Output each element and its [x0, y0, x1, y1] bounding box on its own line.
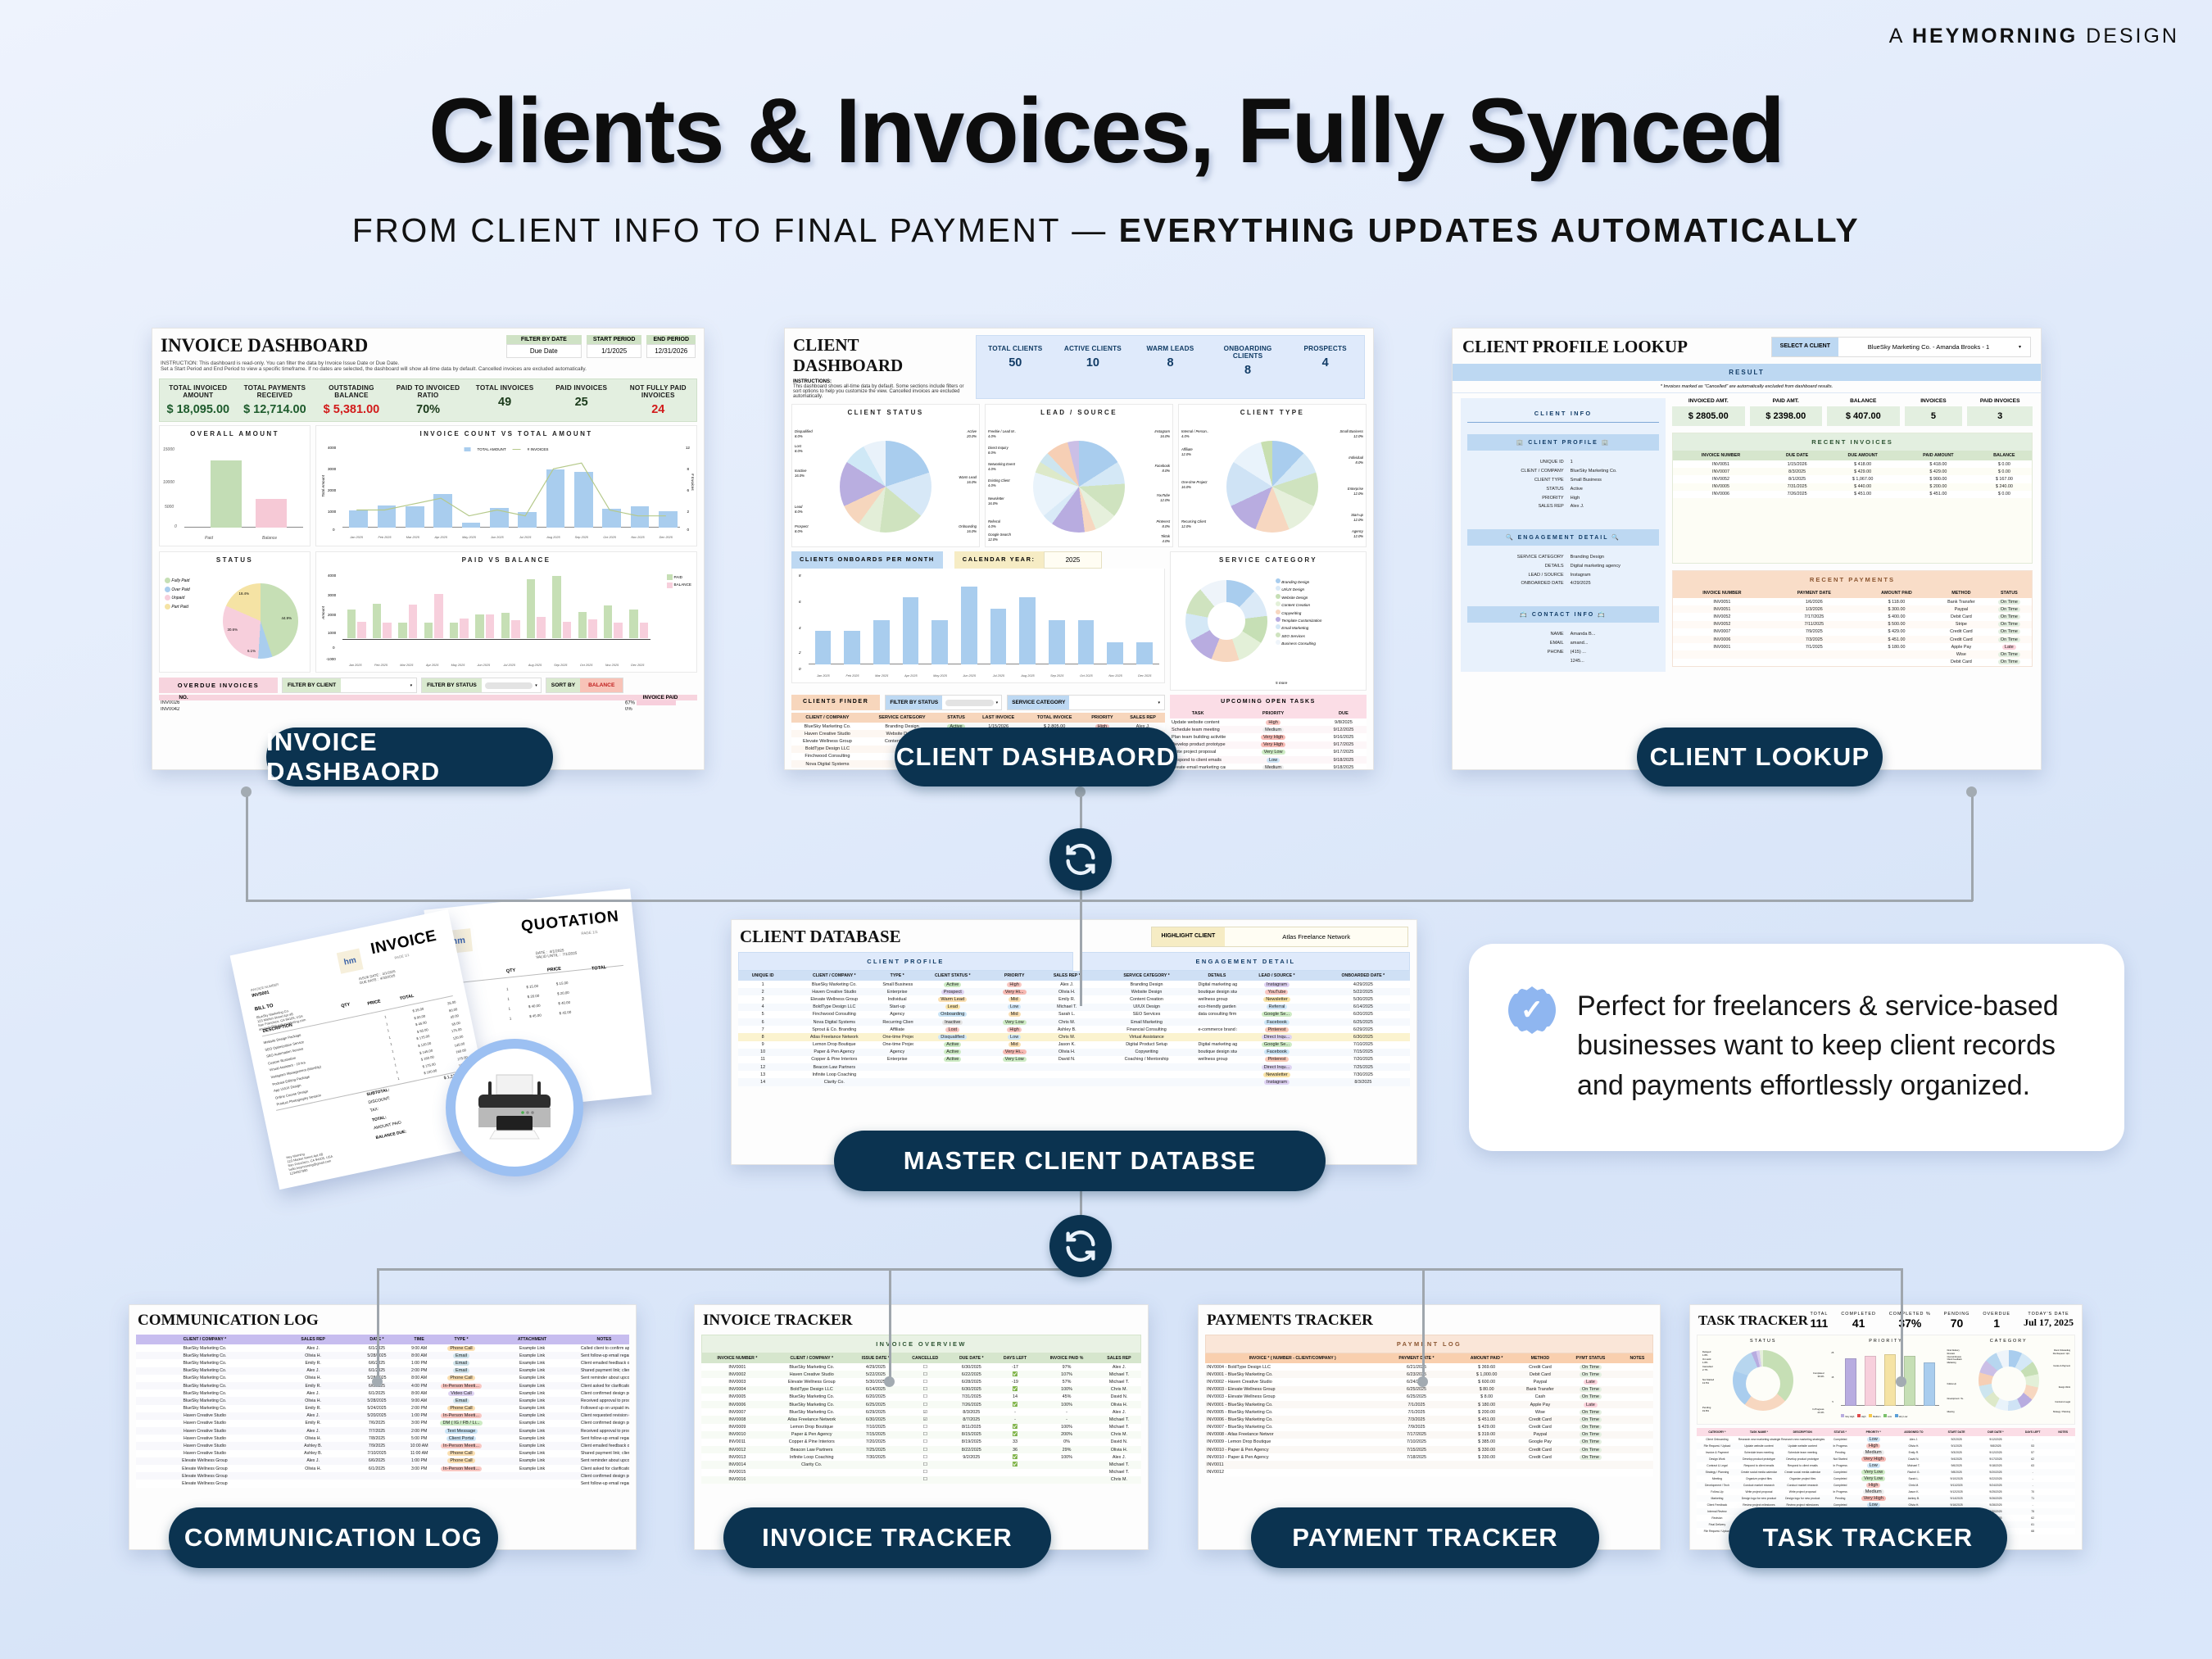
client-lookup-card[interactable]: CLIENT PROFILE LOOKUP SELECT A CLIENT Bl…: [1452, 328, 2042, 770]
table-row[interactable]: 10Paper & Pen AgencyAgencyActiveVery Hi.…: [738, 1049, 1410, 1056]
table-row[interactable]: 8Atlas Freelance NetworkOne-time Project…: [738, 1033, 1410, 1040]
table-row[interactable]: BlueSky Marketing Co.Olivia H.5/28/20258…: [136, 1352, 629, 1359]
table-cell: 57: [2015, 1449, 2051, 1456]
table-row[interactable]: Haven Creative StudioAshley B.7/10/20251…: [136, 1450, 629, 1457]
table-cell: Alex J.: [274, 1367, 353, 1375]
table-cell: Shared payment link; client confirmed re…: [579, 1367, 629, 1375]
column-header[interactable]: PRIORITY: [991, 971, 1036, 981]
table-row[interactable]: INV00528/1/2025$ 1,067.00$ 900.00$ 167.0…: [1673, 475, 2032, 483]
bar: [578, 612, 587, 638]
table-row[interactable]: INV0010 - Paper & Pen Agency7/18/2025$ 3…: [1205, 1453, 1653, 1461]
table-row[interactable]: Haven Creative StudioOlivia H.7/8/20255:…: [136, 1435, 629, 1442]
table-row[interactable]: Respond to client emailsLow9/18/2025: [1170, 756, 1367, 764]
connector-line: [889, 1268, 891, 1383]
column-header[interactable]: DAYS LEFT: [994, 1353, 1036, 1363]
table-row[interactable]: Create email marketing campaignMedium9/1…: [1170, 764, 1367, 770]
table-cell: 7/10/2025: [1317, 1041, 1410, 1049]
table-row[interactable]: 6Nova Digital SystemsRecurring ClientIna…: [738, 1018, 1410, 1026]
table-row[interactable]: Write project proposalVery Low9/17/2025: [1170, 749, 1367, 756]
table-cell: Website Design: [1097, 988, 1197, 995]
calendar-year-label: CALENDAR YEAR:: [954, 551, 1044, 569]
column-header[interactable]: CLIENT / COMPANY *: [773, 1353, 850, 1363]
table-cell: [1621, 1394, 1653, 1401]
table-cell: $ 500.00: [1857, 621, 1936, 628]
table-cell: $ 330.00: [1453, 1446, 1521, 1453]
info-value: BlueSky Marketing Co.: [1567, 467, 1659, 476]
bar: [1078, 620, 1095, 665]
table-row[interactable]: BlueSky Marketing Co.Alex J.6/1/20252:00…: [136, 1367, 629, 1375]
chart-overall-amount: OVERALL AMOUNT 15000 10000 5000 0 Paid B…: [159, 425, 310, 546]
table-row[interactable]: INV0011: [1205, 1461, 1653, 1468]
column-header[interactable]: SALES REP: [1121, 713, 1165, 723]
table-cell: Organize project files: [1780, 1475, 1824, 1482]
info-value: Alex J.: [1567, 502, 1659, 511]
column-header[interactable]: INVOICE NUMBER *: [701, 1353, 773, 1363]
table-row[interactable]: 5Finchwood ConsultingAgencyOnboardingMid…: [738, 1011, 1410, 1018]
table-cell: ☐: [901, 1431, 950, 1439]
column-header[interactable]: PAYMENT DATE *: [1380, 1353, 1453, 1363]
column-header[interactable]: DUE: [1321, 709, 1367, 718]
table-row[interactable]: Elevate Wellness GroupSent follow-up ema…: [136, 1480, 629, 1487]
client-database-card[interactable]: CLIENT DATABASE HIGHLIGHT CLIENT Atlas F…: [731, 919, 1417, 1165]
table-row[interactable]: BlueSky Marketing Co.Emily R.5/24/20252:…: [136, 1405, 629, 1412]
pill-invoice-tracker[interactable]: INVOICE TRACKER: [723, 1507, 1051, 1568]
table-row[interactable]: Plan team building activitiesVery High9/…: [1170, 733, 1367, 741]
table-row[interactable]: 13Infinite Loop CoachingNewsletter7/30/2…: [738, 1071, 1410, 1078]
column-header[interactable]: PRIORITY: [1084, 713, 1121, 723]
axis-tick: Nov 2025: [599, 664, 624, 667]
table-cell: INV0013: [701, 1453, 773, 1461]
table-cell: Schedule team meeting: [1780, 1449, 1824, 1456]
column-header[interactable]: UNIQUE ID: [738, 971, 787, 981]
table-row[interactable]: Haven Creative StudioAlex J.5/20/20251:0…: [136, 1412, 629, 1420]
column-header[interactable]: CLIENT / COMPANY *: [787, 971, 881, 981]
column-header[interactable]: SERVICE CATEGORY *: [1097, 971, 1197, 981]
column-header[interactable]: DUE DATE *: [1977, 1428, 2015, 1436]
table-row[interactable]: INV0004BoldType Design LLC6/14/2025☐6/30…: [701, 1386, 1141, 1394]
connector-dot: [1966, 786, 1977, 797]
connector-line: [1971, 791, 1974, 901]
table-row[interactable]: Haven Creative StudioAshley B.7/9/202510…: [136, 1442, 629, 1449]
table-cell: YouTube: [1237, 988, 1316, 995]
column-header[interactable]: AMOUNT PAID *: [1453, 1353, 1521, 1363]
table-cell: Email Marketing: [1097, 1018, 1197, 1026]
table-row[interactable]: BlueSky Marketing Co.Alex J.6/1/20259:00…: [136, 1344, 629, 1352]
table-row[interactable]: MeetingOrganize project filesOrganize pr…: [1697, 1475, 2075, 1482]
table-row[interactable]: 14Clarity Co.Instagram8/3/2025: [738, 1078, 1410, 1086]
table-row[interactable]: BlueSky Marketing Co.Emily R.6/6/20254:0…: [136, 1382, 629, 1389]
table-cell: 2:00 PM: [401, 1367, 437, 1375]
table-cell: On Time: [1560, 1439, 1621, 1446]
filter-by-date[interactable]: FILTER BY DATE Due Date: [506, 335, 582, 358]
table-row[interactable]: 4BoldType Design LLCStart-upLeadLowMicha…: [738, 1004, 1410, 1011]
table-row[interactable]: BlueSky Marketing Co.Olivia H.5/28/20258…: [136, 1375, 629, 1382]
column-header[interactable]: LAST INVOICE: [972, 713, 1026, 723]
column-header[interactable]: INVOICE * ( NUMBER - CLIENT/COMPANY ): [1205, 1353, 1380, 1363]
table-cell: On Time: [1560, 1431, 1621, 1439]
select-a-client[interactable]: SELECT A CLIENT BlueSky Marketing Co. - …: [1771, 337, 2031, 357]
table-cell: Olivia H.: [1037, 988, 1097, 995]
client-filter-by-status[interactable]: FILTER BY STATUS ▾: [885, 695, 1002, 710]
bar: [347, 610, 356, 638]
table-cell: Paypal: [1521, 1378, 1560, 1385]
column-header[interactable]: DUE DATE *: [950, 1353, 994, 1363]
table-row[interactable]: INV0001 - BlueSky Marketing Co.7/1/2025$…: [1205, 1401, 1653, 1408]
table-row[interactable]: 11Copper & Pine InteriorsEnterpriseActiv…: [738, 1056, 1410, 1063]
info-row: ONBOARDED DATE4/29/2025: [1467, 579, 1659, 588]
table-cell: [1036, 1476, 1097, 1484]
table-cell: Finchwood Consulting: [791, 753, 863, 760]
table-row[interactable]: INV00511/6/2026$ 118.00Bank TransferOn T…: [1673, 598, 2032, 605]
table-row[interactable]: Strategy / PlanningCreate social media c…: [1697, 1469, 2075, 1475]
table-cell: [485, 1472, 579, 1480]
column-header[interactable]: SERVICE CATEGORY: [863, 713, 941, 723]
invoice-dashboard-card[interactable]: INVOICE DASHBOARD FILTER BY DATE Due Dat…: [152, 328, 705, 770]
table-cell: In-Person Meeti...: [437, 1442, 485, 1449]
column-header[interactable]: TIME: [401, 1335, 437, 1344]
table-row[interactable]: INV0005 - BlueSky Marketing Co.7/1/2025$…: [1205, 1408, 1653, 1416]
table-row[interactable]: INV0014Clarity Co.☐✅Michael T.: [701, 1461, 1141, 1468]
info-row: PHONE(415) ...: [1467, 647, 1659, 656]
filter-by-status[interactable]: FILTER BY STATUS ▾: [421, 678, 542, 693]
table-row[interactable]: INV00067/26/2025$ 451.00$ 451.00$ 0.00: [1673, 491, 2032, 498]
table-row[interactable]: INV00527/11/2025$ 500.00StripeOn Time: [1673, 621, 2032, 628]
table-row[interactable]: INV0016☐Chris M.: [701, 1476, 1141, 1484]
column-header[interactable]: CATEGORY *: [1697, 1428, 1738, 1436]
table-row[interactable]: INV0004 - BoldType Design LLC6/21/2025$ …: [1205, 1363, 1653, 1371]
table-cell: Internal Review: [1697, 1508, 1738, 1515]
table-cell: Michael T.: [1097, 1371, 1141, 1378]
pill-task-tracker[interactable]: TASK TRACKER: [1729, 1507, 2007, 1568]
pill-master-client-database[interactable]: MASTER CLIENT DATABSE: [834, 1131, 1326, 1191]
table-row[interactable]: File Request / UploadUpdate website cont…: [1697, 1443, 2075, 1449]
table-cell: Debit Card: [1936, 659, 1987, 666]
table-cell: 6/20/2025: [850, 1394, 901, 1401]
table-row[interactable]: INV0002 - Haven Creative Studio6/24/2025…: [1205, 1378, 1653, 1385]
info-key: STATUS: [1467, 484, 1567, 493]
table-cell: Atlas Freelance Network: [787, 1033, 881, 1040]
column-header[interactable]: PYMT STATUS: [1560, 1353, 1621, 1363]
table-row[interactable]: INV0013Infinite Loop Coaching7/30/2025☐9…: [701, 1453, 1141, 1461]
table-cell: High: [991, 981, 1036, 988]
column-header[interactable]: PAYMENT DATE: [1771, 588, 1857, 598]
start-period[interactable]: START PERIOD 1/1/2025: [587, 335, 642, 358]
table-row[interactable]: Update website contentHigh9/8/2025: [1170, 718, 1367, 726]
onboards-title: CLIENTS ONBOARDS PER MONTH: [791, 551, 943, 569]
table-cell: Olivia H.: [1037, 1049, 1097, 1056]
table-row[interactable]: Schedule team meetingMedium9/12/2025: [1170, 726, 1367, 733]
table-row[interactable]: 9Lemon Drop BoutiqueOne-time ProjectActi…: [738, 1041, 1410, 1049]
table-cell: Late: [1560, 1401, 1621, 1408]
column-header[interactable]: NOTES: [579, 1335, 629, 1344]
column-header[interactable]: PRIORITY: [1226, 709, 1321, 718]
table-row[interactable]: 1BlueSky Marketing Co.Small BusinessActi…: [738, 981, 1410, 988]
table-row[interactable]: INV0007BlueSky Marketing Co.6/29/2025☑8/…: [701, 1408, 1141, 1416]
table-cell: Wise: [1936, 650, 1987, 658]
column-header[interactable]: SALES REP: [274, 1335, 353, 1344]
table-row[interactable]: INV0007 - BlueSky Marketing Co.7/9/2025$…: [1205, 1424, 1653, 1431]
sync-icon: [1049, 828, 1112, 891]
column-header[interactable]: STATUS *: [1824, 1428, 1855, 1436]
table-row[interactable]: INV0005BlueSky Marketing Co.6/20/2025☐7/…: [701, 1394, 1141, 1401]
table-cell: Example Link: [485, 1427, 579, 1435]
table-row[interactable]: WiseOn Time: [1673, 650, 2032, 658]
table-cell: Haven Creative Studio: [136, 1427, 274, 1435]
column-header[interactable]: INVOICE PAID %: [1036, 1353, 1097, 1363]
table-cell: ☐: [901, 1469, 950, 1476]
end-period[interactable]: END PERIOD 12/31/2026: [646, 335, 696, 358]
table-cell: INV0002 - Haven Creative Studio: [1205, 1378, 1380, 1385]
pill-client-lookup[interactable]: CLIENT LOOKUP: [1637, 728, 1883, 786]
table-row[interactable]: Haven Creative StudioEmily R.7/6/20253:0…: [136, 1420, 629, 1427]
table-cell: [2051, 1456, 2075, 1462]
axis-tick: Jul 2025: [511, 536, 539, 539]
connector-line: [377, 1268, 1901, 1271]
filter-by-client[interactable]: FILTER BY CLIENT ▾: [282, 678, 417, 693]
table-row[interactable]: INV0006BlueSky Marketing Co.6/25/2025☐7/…: [701, 1401, 1141, 1408]
table-row[interactable]: INV0012Beacon Law Partners7/25/2025☐8/22…: [701, 1446, 1141, 1453]
column-header[interactable]: START DATE: [1936, 1428, 1977, 1436]
highlight-client[interactable]: HIGHLIGHT CLIENT Atlas Freelance Network: [1151, 927, 1408, 947]
table-cell: Jason K.: [1892, 1489, 1937, 1495]
table-cell: [485, 1480, 579, 1487]
table-cell: Medium: [1226, 726, 1321, 733]
column-header[interactable]: STATUS: [1987, 588, 2032, 598]
table-row[interactable]: INV0001BlueSky Marketing Co.4/29/2025☐6/…: [701, 1363, 1141, 1371]
chart-invoice-status-pie: STATUS Fully Paid Over Paid Unpaid Part …: [159, 551, 310, 673]
column-header[interactable]: DAYS LEFT: [2015, 1428, 2051, 1436]
table-row[interactable]: INV0008 - Atlas Freelance Networ7/17/202…: [1205, 1431, 1653, 1439]
column-header[interactable]: INVOICE NUMBER: [1673, 588, 1771, 598]
table-row[interactable]: Follow-UpWrite project proposalWrite pro…: [1697, 1489, 2075, 1495]
column-header[interactable]: SALES REP *: [1037, 971, 1097, 981]
table-row[interactable]: INV0001 - BlueSky Marketing Co.6/23/2025…: [1205, 1371, 1653, 1378]
table-row[interactable]: BlueSky Marketing Co.Emily R.6/6/20251:0…: [136, 1359, 629, 1367]
table-row[interactable]: INV0009 - Lemon Drop Boutique7/10/2025$ …: [1205, 1439, 1653, 1446]
table-cell: 3: [738, 995, 787, 1003]
table-cell: Prospect: [913, 988, 991, 995]
column-header[interactable]: METHOD: [1521, 1353, 1560, 1363]
table-row[interactable]: 3Elevate Wellness GroupIndividualWarm Le…: [738, 995, 1410, 1003]
table-cell: Bank Transfer: [1936, 598, 1987, 605]
table-row[interactable]: Invoice & PaymentSchedule team meetingSc…: [1697, 1449, 2075, 1456]
column-header[interactable]: DESCRIPTION: [1780, 1428, 1824, 1436]
pill-invoice-dashboard[interactable]: INVOICE DASHBAORD: [266, 728, 553, 786]
column-header[interactable]: TOTAL INVOICE: [1026, 713, 1084, 723]
pill-client-dashboard[interactable]: CLIENT DASHBAORD: [895, 728, 1177, 786]
column-header[interactable]: PAID AMOUNT: [1900, 451, 1977, 460]
table-row[interactable]: Elevate Wellness GroupOlivia H.6/1/20253…: [136, 1465, 629, 1472]
table-row[interactable]: INV00527/17/2025$ 400.00Debit CardOn Tim…: [1673, 613, 2032, 620]
table-cell: [1673, 659, 1771, 666]
table-cell: 7/1/2025: [1771, 643, 1857, 650]
column-header[interactable]: ISSUE DATE *: [850, 1353, 901, 1363]
client-dashboard-card[interactable]: CLIENT DASHBOARD INSTRUCTIONS: This dash…: [784, 328, 1374, 770]
table-cell: 7/25/2025: [850, 1446, 901, 1453]
table-cell: 7/20/2025: [1317, 1056, 1410, 1063]
table-cell: Create social media calendar: [1780, 1469, 1824, 1475]
table-cell: 9:00 AM: [401, 1397, 437, 1404]
table-row[interactable]: MarketingDesign logo for new productDesi…: [1697, 1495, 2075, 1502]
column-header[interactable]: NOTES: [2051, 1428, 2075, 1436]
client-kpi-band: TOTAL CLIENTS50 ACTIVE CLIENTS10 WARM LE…: [976, 335, 1365, 399]
table-row[interactable]: INV0003 - Elevate Wellness Group6/25/202…: [1205, 1394, 1653, 1401]
pill-payment-tracker[interactable]: PAYMENT TRACKER: [1251, 1507, 1599, 1568]
table-cell: Alex J.: [274, 1457, 353, 1465]
service-category-filter[interactable]: SERVICE CATEGORY ▾: [1007, 695, 1165, 710]
calendar-year-value[interactable]: 2025: [1044, 551, 1103, 569]
kpi-invoices: INVOICES5: [1905, 398, 1963, 426]
table-row[interactable]: INV00057/31/2025$ 440.00$ 200.00$ 240.00: [1673, 483, 2032, 491]
table-cell: Emily R.: [1037, 995, 1097, 1003]
table-row[interactable]: BlueSky Marketing Co.Olivia H.5/28/20259…: [136, 1397, 629, 1404]
table-cell: 6/20/2025: [1317, 1011, 1410, 1018]
table-row[interactable]: INV00067/3/2025$ 451.00Credit CardOn Tim…: [1673, 636, 2032, 643]
axis-tick: Sep 2025: [568, 536, 596, 539]
kpi-paid-invoices: PAID INVOICES25: [543, 379, 620, 421]
table-row[interactable]: Development / TechConduct market researc…: [1697, 1482, 2075, 1489]
table-cell: Conduct market research: [1780, 1482, 1824, 1489]
table-row[interactable]: 2Haven Creative StudioEnterpriseProspect…: [738, 988, 1410, 995]
table-cell: Video Call: [437, 1389, 485, 1397]
table-row[interactable]: BlueSky Marketing Co.Alex J.6/1/20258:00…: [136, 1389, 629, 1397]
column-header[interactable]: ASSIGNED TO: [1892, 1428, 1937, 1436]
axis-tick: Jun 2025: [483, 536, 511, 539]
column-header[interactable]: CLIENT / COMPANY: [791, 713, 863, 723]
table-row[interactable]: 7Sprout & Co. BrandingAffiliateLostHighA…: [738, 1026, 1410, 1033]
column-header[interactable]: INVOICE NUMBER: [1673, 451, 1769, 460]
table-row[interactable]: INV0010Paper & Pen Agency7/15/2025☐8/15/…: [701, 1431, 1141, 1439]
table-row[interactable]: INV00017/1/2025$ 180.00Apple PayLate: [1673, 643, 2032, 650]
table-row[interactable]: INV0006 - BlueSky Marketing Co.7/3/2025$…: [1205, 1416, 1653, 1423]
column-header[interactable]: NOTES: [1621, 1353, 1653, 1363]
table-row[interactable]: INV00511/3/2026$ 300.00PaypalOn Time: [1673, 605, 2032, 613]
table-cell: [401, 1472, 437, 1480]
table-cell: Example Link: [485, 1352, 579, 1359]
recent-payments-table: INVOICE NUMBERPAYMENT DATEAMOUNT PAIDMET…: [1673, 588, 2032, 666]
table-cell: Individual: [881, 995, 913, 1003]
table-row[interactable]: INV0012: [1205, 1469, 1653, 1476]
table-cell: [2051, 1528, 2075, 1534]
table-cell: -: [2015, 1436, 2051, 1443]
column-header[interactable]: BALANCE: [1977, 451, 2032, 460]
column-header[interactable]: SALES REP: [1097, 1353, 1141, 1363]
table-cell: -: [1036, 1408, 1097, 1416]
axis-tick: Nov 2025: [623, 536, 651, 539]
table-row[interactable]: INV0003 - Elevate Wellness Group6/25/202…: [1205, 1386, 1653, 1394]
column-header[interactable]: DUE DATE: [1769, 451, 1825, 460]
bar: [1136, 642, 1153, 664]
table-cell: Write project proposal: [1170, 749, 1226, 756]
axis-tick: Jul 2025: [984, 674, 1013, 678]
column-header[interactable]: DUE AMOUNT: [1825, 451, 1900, 460]
table-row[interactable]: Develop product prototypeVery High9/17/2…: [1170, 741, 1367, 749]
table-cell: Alex J.: [1097, 1408, 1141, 1416]
table-row[interactable]: Haven Creative StudioAlex J.7/7/20252:00…: [136, 1427, 629, 1435]
table-row[interactable]: Elevate Wellness GroupClient confirmed d…: [136, 1472, 629, 1480]
column-header[interactable]: ONBOARDED DATE *: [1317, 971, 1410, 981]
table-row[interactable]: INV00511/15/2026$ 418.00$ 418.00$ 0.00: [1673, 460, 2032, 468]
column-header[interactable]: ATTACHMENT: [485, 1335, 579, 1344]
table-row[interactable]: Elevate Wellness GroupAlex J.6/6/20251:0…: [136, 1457, 629, 1465]
axis-tick: Apr 2025: [427, 536, 455, 539]
column-header[interactable]: TYPE *: [881, 971, 913, 981]
table-row[interactable]: Contract & LegalRespond to client emails…: [1697, 1462, 2075, 1469]
table-row[interactable]: 12Beacon Law PartnersDirect Inqu...7/25/…: [738, 1063, 1410, 1071]
sort-by[interactable]: SORT BY BALANCE: [546, 678, 624, 693]
table-cell: 6/30/2025: [850, 1416, 901, 1423]
overdue-invoices-header: OVERDUE INVOICES: [159, 678, 278, 693]
column-header[interactable]: LEAD / SOURCE *: [1237, 971, 1316, 981]
column-header[interactable]: CLIENT / COMPANY *: [136, 1335, 274, 1344]
table-cell: Very Hi...: [991, 1049, 1036, 1056]
table-cell: boutique design studio foc: [1197, 988, 1238, 995]
table-row[interactable]: Debit CardOn Time: [1673, 659, 2032, 666]
column-header[interactable]: AMOUNT PAID: [1857, 588, 1936, 598]
column-header[interactable]: TASK: [1170, 709, 1226, 718]
table-cell: [850, 1469, 901, 1476]
table-row[interactable]: Design WorkDevelop product prototypeDeve…: [1697, 1456, 2075, 1462]
kpi-total-payments: TOTAL PAYMENTS RECEIVED$ 12,714.00: [237, 379, 314, 421]
column-header[interactable]: DETAILS: [1197, 971, 1238, 981]
table-cell: David N.: [1097, 1394, 1141, 1401]
table-cell: [913, 1063, 991, 1071]
table-cell: Conduct market research: [1738, 1482, 1780, 1489]
column-header[interactable]: CLIENT STATUS *: [913, 971, 991, 981]
table-cell: -: [2015, 1469, 2051, 1475]
table-row[interactable]: INV0008Atlas Freelance Network6/30/2025☑…: [701, 1416, 1141, 1423]
column-header[interactable]: STATUS: [941, 713, 972, 723]
table-cell: Completed: [1824, 1436, 1855, 1443]
table-cell: Paypal: [1936, 605, 1987, 613]
kpi-not-fully-paid: NOT FULLY PAID INVOICES24: [619, 379, 696, 421]
table-cell: David N.: [1037, 1056, 1097, 1063]
table-cell: Copywriting: [1097, 1049, 1197, 1056]
table-cell: Disqualified: [913, 1033, 991, 1040]
table-row[interactable]: INV0009Lemon Drop Boutique7/10/2025☐8/11…: [701, 1424, 1141, 1431]
table-row[interactable]: INV0003Elevate Wellness Group5/30/2025☐6…: [701, 1378, 1141, 1385]
table-cell: BlueSky Marketing Co.: [773, 1401, 850, 1408]
column-header[interactable]: PRIORITY *: [1856, 1428, 1892, 1436]
table-cell: 7/26/2025: [1769, 491, 1825, 498]
pill-communication-log[interactable]: COMMUNICATION LOG: [169, 1507, 498, 1568]
table-row[interactable]: INV0011Copper & Pine Interiors7/20/2025☐…: [701, 1439, 1141, 1446]
axis-tick: May 2025: [455, 536, 483, 539]
table-row[interactable]: INV00077/9/2025$ 429.00Credit CardOn Tim…: [1673, 628, 2032, 636]
table-cell: $ 80.00: [1453, 1386, 1521, 1394]
info-key: PHONE: [1467, 647, 1567, 656]
bar: [373, 604, 382, 638]
table-row[interactable]: Client OnboardingResearch new marketing …: [1697, 1436, 2075, 1443]
table-cell: [1036, 1469, 1097, 1476]
column-header[interactable]: METHOD: [1936, 588, 1987, 598]
column-header[interactable]: CANCELLED: [901, 1353, 950, 1363]
table-row[interactable]: INV0010 - Paper & Pen Agency7/15/2025$ 3…: [1205, 1446, 1653, 1453]
table-cell: Michael T.: [1097, 1469, 1141, 1476]
table-cell: Received approval to proceed with next p…: [579, 1397, 629, 1404]
column-header[interactable]: TASK NAME *: [1738, 1428, 1780, 1436]
table-cell: [1380, 1461, 1453, 1468]
payment-log-header: PAYMENT LOG: [1205, 1335, 1653, 1353]
table-row[interactable]: INV00078/3/2025$ 429.00$ 429.00$ 0.00: [1673, 468, 2032, 475]
table-cell: On Time: [1987, 605, 2032, 613]
table-cell: Example Link: [485, 1397, 579, 1404]
table-row[interactable]: INV0002Haven Creative Studio5/22/2025☐6/…: [701, 1371, 1141, 1378]
table-row[interactable]: INV0015☐Michael T.: [701, 1469, 1141, 1476]
column-header[interactable]: TYPE *: [437, 1335, 485, 1344]
table-row: INV00420%: [159, 707, 697, 714]
table-cell: $ 180.00: [1857, 643, 1936, 650]
